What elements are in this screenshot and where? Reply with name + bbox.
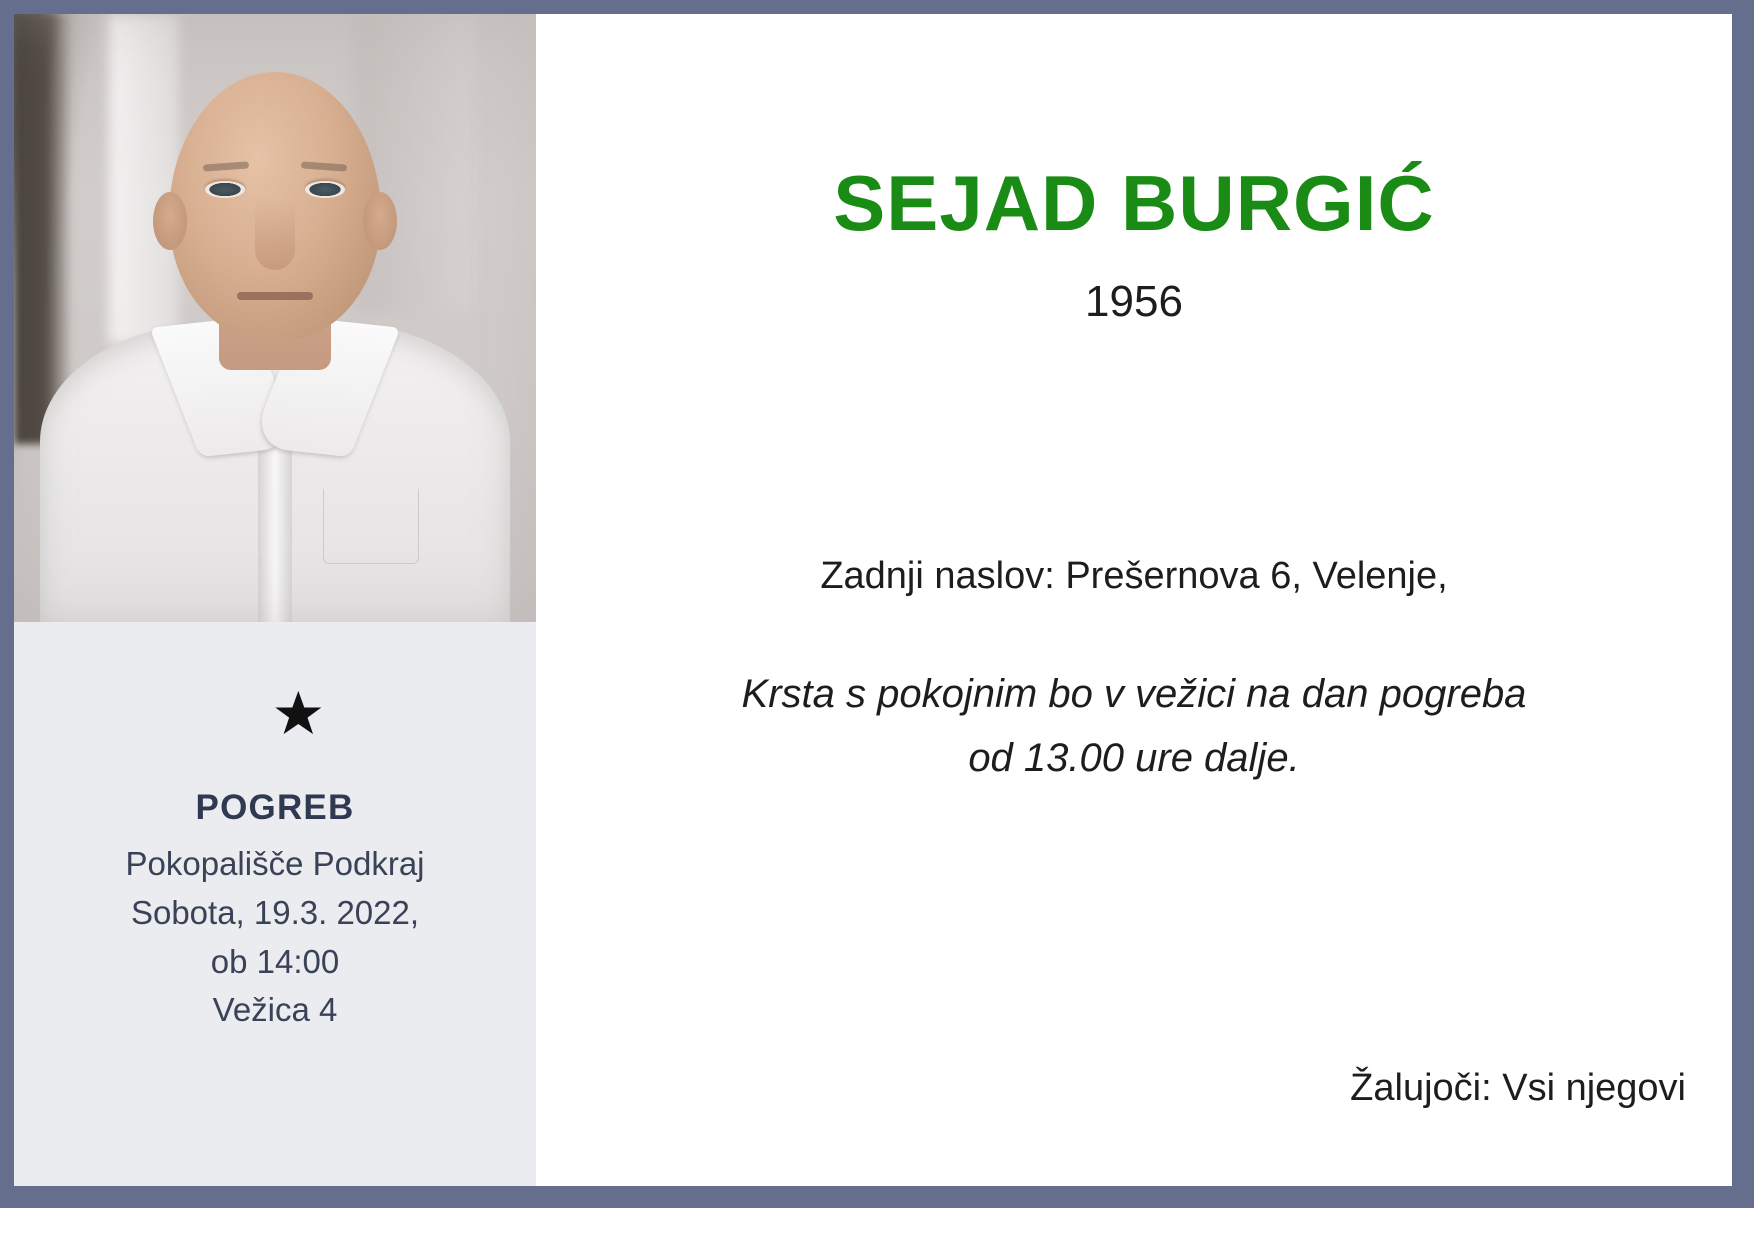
main-content: SEJAD BURGIĆ 1956 Zadnji naslov: Prešern… [536,14,1732,1186]
memorial-notice-card: POGREB Pokopališče Podkraj Sobota, 19.3.… [14,14,1732,1186]
last-address: Zadnji naslov: Prešernova 6, Velenje, [582,554,1686,600]
funeral-details-panel: POGREB Pokopališče Podkraj Sobota, 19.3.… [14,622,536,1186]
funeral-time: ob 14:00 [211,938,339,987]
crescent-moon-and-star-icon [219,650,331,762]
funeral-chapel: Vežica 4 [213,986,338,1035]
deceased-birth-year: 1956 [582,280,1686,324]
photo-vignette [14,14,536,622]
deceased-name: SEJAD BURGIĆ [582,164,1686,242]
portrait-photo [14,14,536,622]
funeral-cemetery: Pokopališče Podkraj [126,840,425,889]
funeral-heading: POGREB [196,788,355,828]
mourners-line: Žalujoči: Vsi njegovi [1350,1066,1686,1112]
coffin-note-line-1: Krsta s pokojnim bo v vežici na dan pogr… [582,662,1686,727]
coffin-note-line-2: od 13.00 ure dalje. [582,726,1686,791]
left-column: POGREB Pokopališče Podkraj Sobota, 19.3.… [14,14,536,1186]
funeral-date: Sobota, 19.3. 2022, [131,889,419,938]
coffin-viewing-note: Krsta s pokojnim bo v vežici na dan pogr… [582,662,1686,792]
memorial-notice-frame: POGREB Pokopališče Podkraj Sobota, 19.3.… [0,0,1754,1208]
